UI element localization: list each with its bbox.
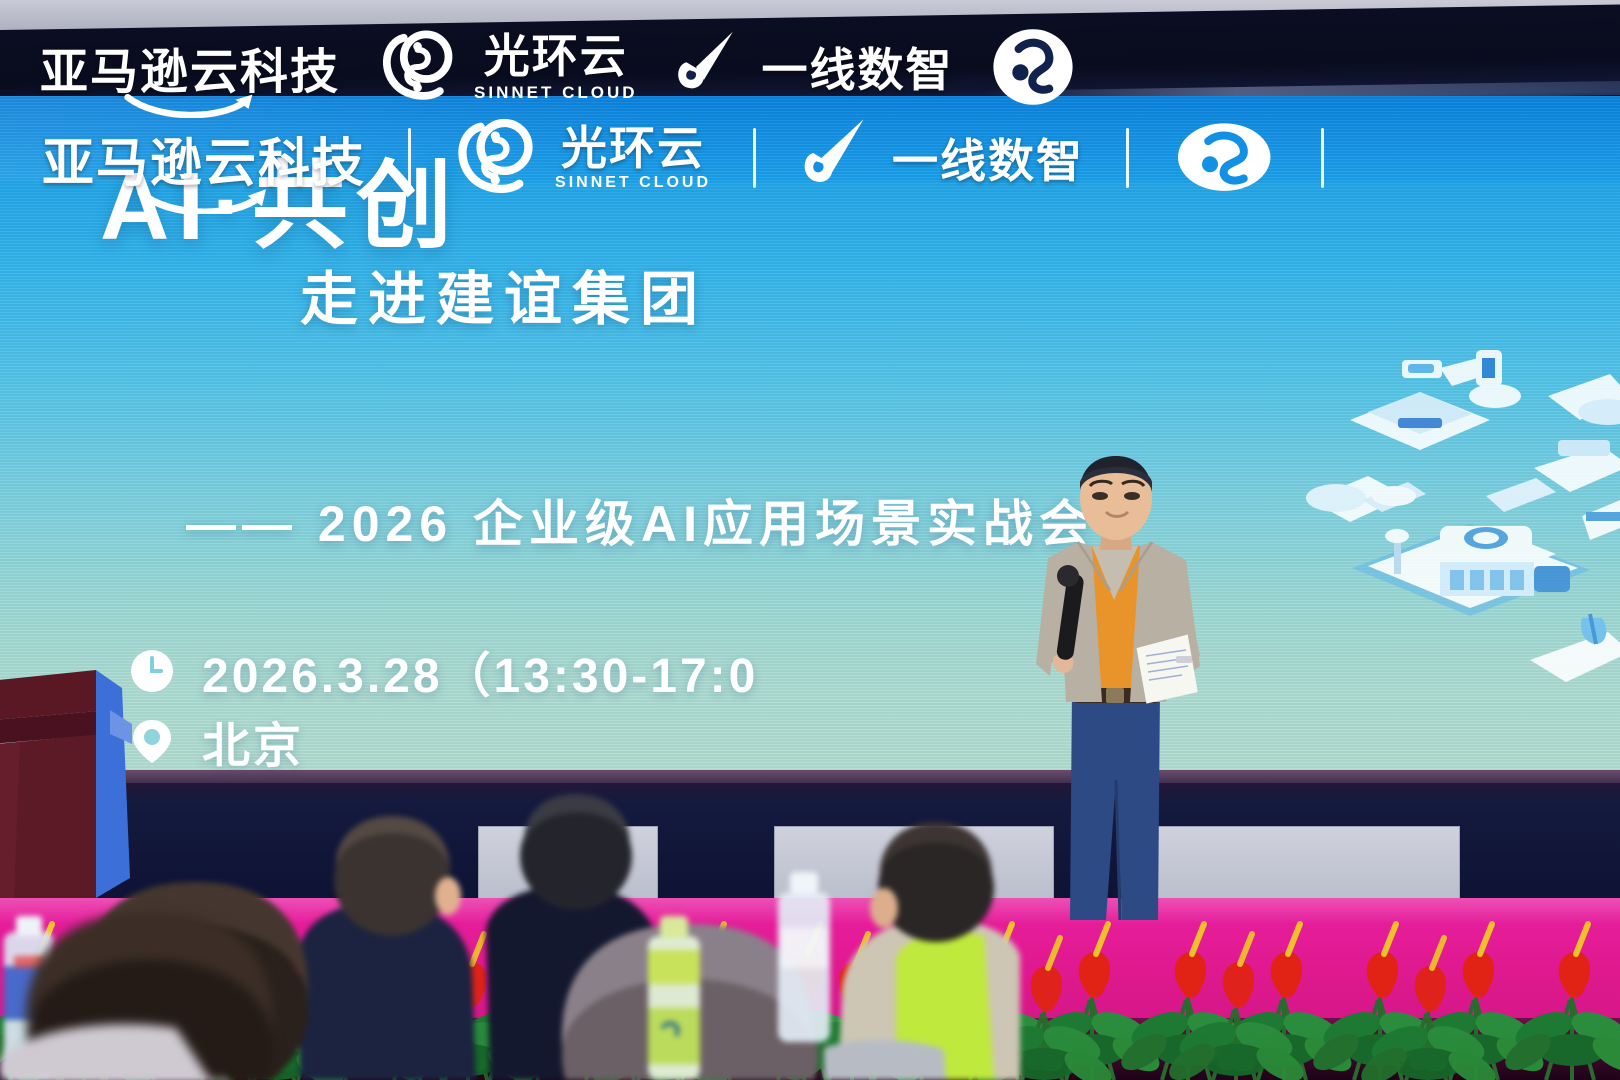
logo-sinnet-led: 光环云 SINNET CLOUD: [453, 112, 711, 204]
logo-separator-3: [1126, 128, 1129, 188]
isometric-city-illustration: [1290, 300, 1620, 720]
logo-aws-top: 亚马逊云科技: [40, 32, 340, 102]
logo-aws-led: 亚马逊云科技: [42, 121, 366, 196]
logo-bar-led: 亚马逊云科技 光环云 SINNET CLOUD: [42, 112, 1346, 204]
audience-nearest: [0, 760, 1020, 1080]
logo-separator-4: [1321, 128, 1324, 188]
sinnet-swirl-icon: [453, 112, 545, 204]
logo-sinnet-top: 光环云 SINNET CLOUD: [378, 24, 638, 110]
slide-date-text: 2026.3.28（13:30-17:0: [202, 636, 758, 706]
logo-sinnet-led-sublabel: SINNET CLOUD: [555, 175, 711, 191]
logo-partner-emblem-led: [1171, 118, 1281, 198]
logo-yixian-top-label: 一线数智: [762, 34, 954, 100]
logo-sinnet-top-sublabel: SINNET CLOUD: [474, 84, 638, 101]
slide-subtitle: —— 2026 企业级AI应用场景实战会: [186, 484, 1095, 556]
rocket-arrow-icon: [672, 27, 752, 107]
logo-separator-2: [753, 128, 756, 188]
logo-sinnet-top-label: 光环云: [484, 33, 628, 79]
sinnet-swirl-icon: [378, 24, 464, 110]
logo-separator-1: [408, 128, 411, 188]
presenter: [1010, 450, 1220, 920]
logo-yixian-top: 一线数智: [672, 27, 954, 107]
rocket-arrow-icon: [798, 116, 882, 200]
conference-photo: 亚马逊云科技 光环云 SINNET CLOUD: [0, 0, 1620, 1080]
logo-aws-led-label: 亚马逊云科技: [42, 135, 366, 193]
amazon-smile-icon: [61, 188, 346, 214]
logo-yixian-led-label: 一线数智: [892, 125, 1084, 191]
logo-sinnet-led-label: 光环云: [561, 125, 705, 171]
logo-bar-top: 亚马逊云科技 光环云 SINNET CLOUD: [40, 22, 1078, 112]
logo-partner-emblem-top: [988, 22, 1078, 112]
logo-yixian-led: 一线数智: [798, 116, 1084, 200]
slide-date-row: 2026.3.28（13:30-17:0: [128, 636, 758, 706]
